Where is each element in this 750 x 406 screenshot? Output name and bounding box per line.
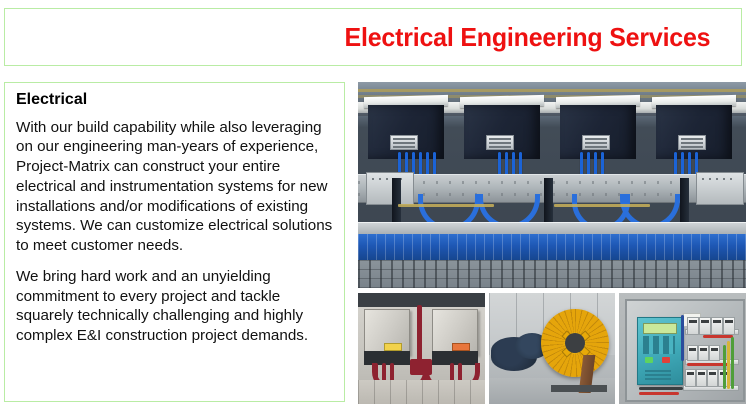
photo-enclosure-1 (368, 96, 444, 158)
electrical-text-panel: Electrical With our build capability whi… (4, 82, 345, 402)
photo-junction-box-1 (366, 172, 414, 205)
thumb3-wire-blue (681, 315, 684, 361)
header-bar: Electrical Engineering Services (4, 8, 742, 66)
thumb3-wire-green (723, 345, 726, 389)
photo-handrail (554, 204, 650, 207)
panel-paragraph-2: We bring hard work and an unyielding com… (16, 267, 335, 346)
vfd-display (643, 323, 677, 334)
thumb3-breaker (699, 317, 711, 335)
panel-paragraph-1: With our build capability while also lev… (16, 118, 335, 256)
vfd-keypad (643, 336, 675, 354)
panel-heading: Electrical (16, 91, 335, 109)
photo-handrail (398, 204, 494, 207)
vfd-start-button (645, 357, 653, 363)
thumb3-wire-red (639, 392, 679, 395)
thumb2-yellow-drum (541, 309, 609, 377)
thumb3-breaker (696, 369, 707, 387)
thumb3-breaker (723, 317, 735, 335)
enclosure-nameplate (678, 135, 706, 150)
thumbnail-row (358, 293, 746, 404)
photo-cable-tray-blue (358, 234, 746, 260)
photo-floor-grating (358, 260, 746, 288)
thumb3-breaker (687, 317, 699, 335)
page-title: Electrical Engineering Services (344, 22, 741, 53)
thumb3-breaker (711, 317, 723, 335)
photo-back-pipe (358, 89, 746, 92)
thumb3-wire-green (731, 337, 734, 389)
yellow-cable-drum-photo (489, 293, 616, 404)
vfd-vent (645, 370, 671, 380)
industrial-switchgear-cable-tray-photo (358, 82, 746, 288)
photo-enclosure-4 (656, 96, 732, 158)
drum-hub (565, 333, 585, 353)
photo-enclosure-3 (560, 96, 636, 158)
photo-enclosure-2 (464, 96, 540, 158)
thumb3-breaker (707, 369, 718, 387)
thumb2-stand-base (551, 385, 607, 392)
enclosure-nameplate (582, 135, 610, 150)
thumb3-wire-red (703, 335, 733, 338)
thumb1-floor (358, 380, 485, 404)
enclosure-body (656, 105, 732, 159)
thumb3-breaker (709, 345, 720, 361)
thumb3-breaker (698, 345, 709, 361)
control-panel-vfd-photo (619, 293, 746, 404)
thumb3-vfd-drive (637, 317, 683, 385)
thumb3-breaker (687, 345, 698, 361)
enclosure-nameplate (486, 135, 514, 150)
thumb3-breaker (685, 369, 696, 387)
thumb3-wire-yellow (727, 341, 730, 389)
media-column (358, 82, 746, 404)
thumb1-red-riser (417, 305, 422, 361)
grey-enclosures-red-cabling-photo (358, 293, 485, 404)
page-root: Electrical Engineering Services Electric… (0, 0, 750, 406)
thumb1-label-left (384, 343, 402, 351)
tray-slot-pattern (358, 234, 746, 260)
vfd-stop-button (662, 357, 670, 363)
thumb1-label-right (452, 343, 470, 351)
photo-junction-box-2 (696, 172, 744, 205)
enclosure-nameplate (390, 135, 418, 150)
thumb3-enclosure (625, 299, 745, 402)
enclosure-body (464, 105, 540, 159)
enclosure-body (560, 105, 636, 159)
enclosure-body (368, 105, 444, 159)
thumb3-wire-black (639, 387, 683, 390)
